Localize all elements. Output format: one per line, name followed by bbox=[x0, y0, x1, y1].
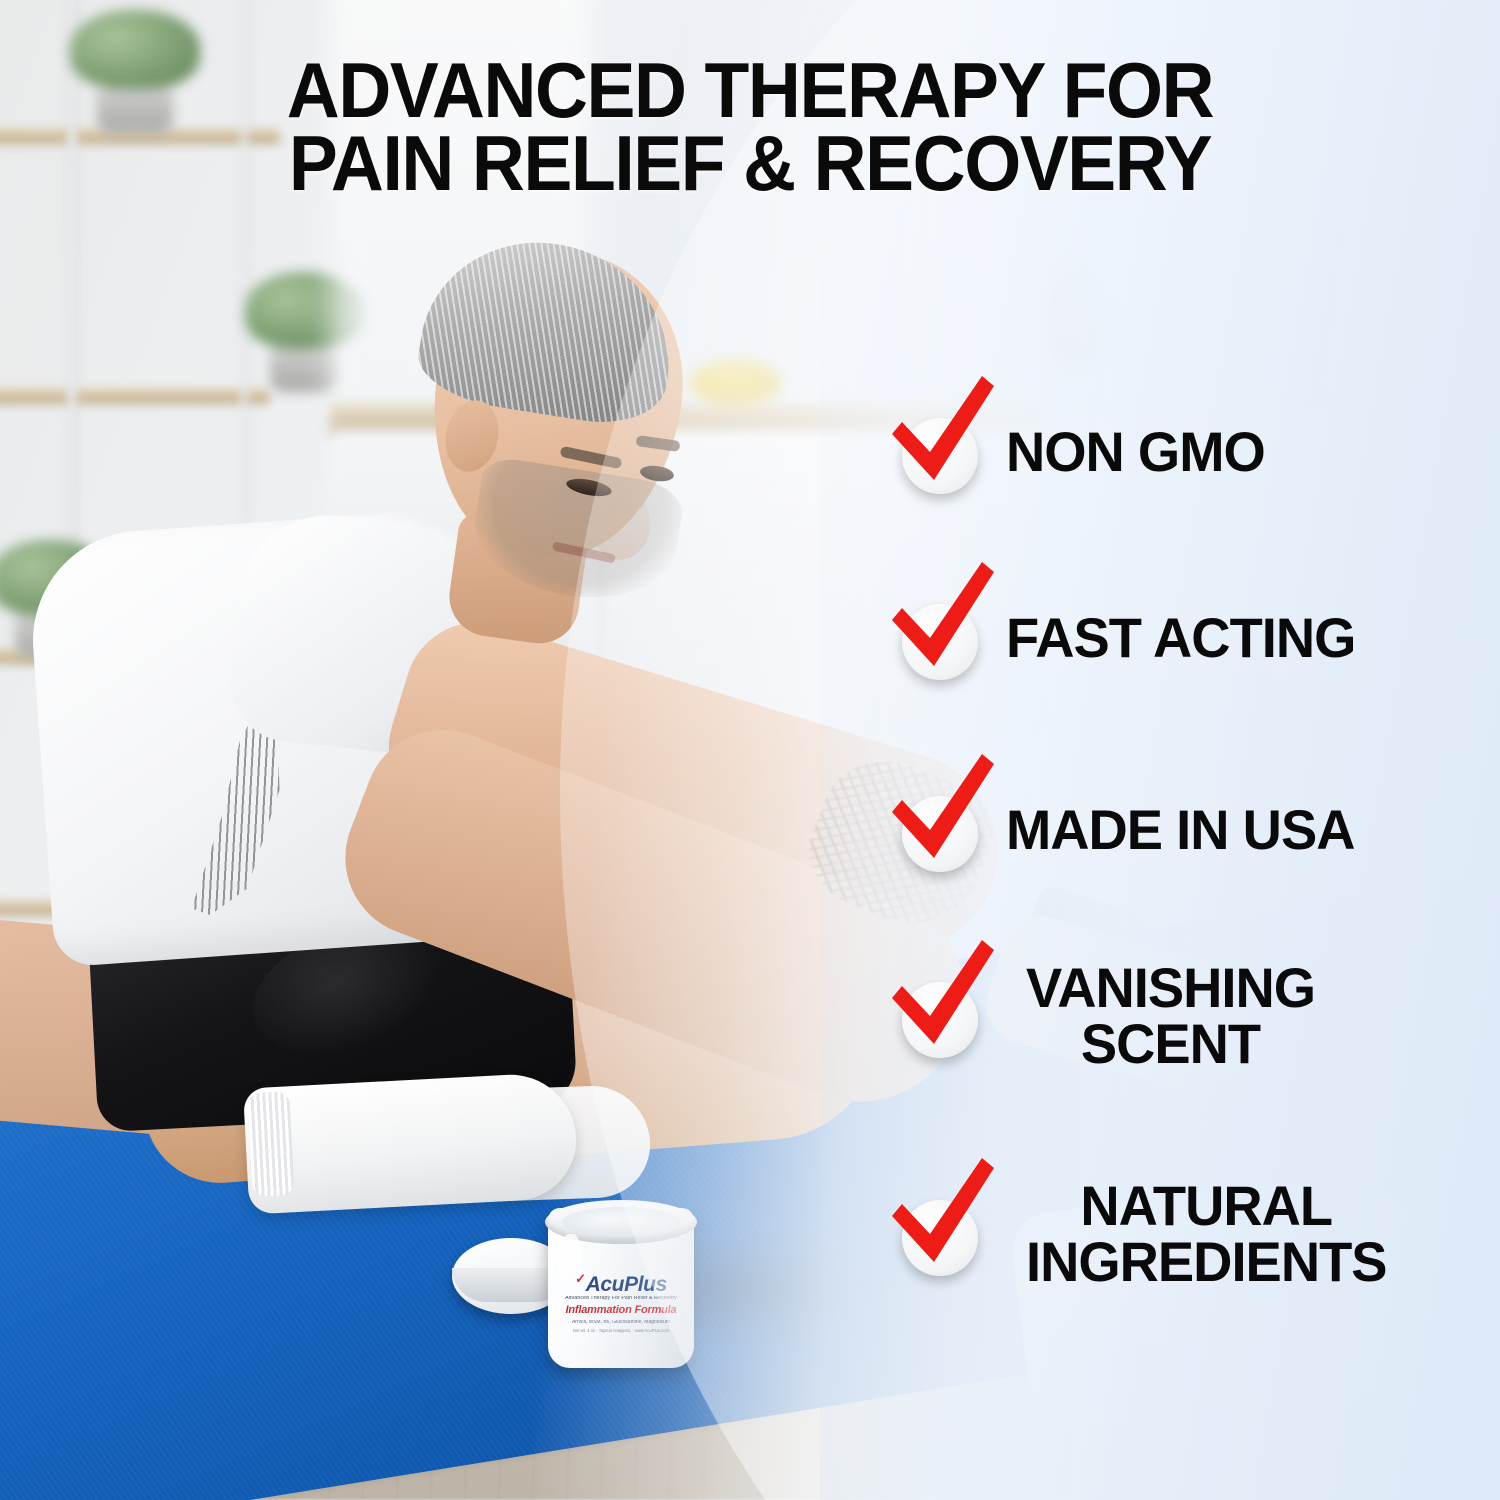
product-jar: ✓AcuPlus Advanced Therapy For Pain Relie… bbox=[548, 1208, 694, 1368]
sock-cuff bbox=[247, 1091, 294, 1197]
benefit-item-made-in-usa: MADE IN USA bbox=[888, 778, 1365, 882]
red-check-icon bbox=[884, 558, 1000, 686]
benefit-label: NON GMO bbox=[1006, 424, 1265, 480]
page-title: ADVANCED THERAPY FOR PAIN RELIEF & RECOV… bbox=[45, 54, 1455, 201]
product-image-canvas: ✓AcuPlus Advanced Therapy For Pain Relie… bbox=[0, 0, 1500, 1500]
check-badge bbox=[888, 586, 992, 690]
benefit-item-fast-acting: FAST ACTING bbox=[888, 586, 1366, 690]
red-check-icon bbox=[884, 1154, 1000, 1282]
jar-brand-name: ✓AcuPlus bbox=[554, 1272, 688, 1295]
benefit-label: FAST ACTING bbox=[1006, 610, 1355, 666]
benefit-item-non-gmo: NON GMO bbox=[888, 400, 1273, 504]
benefit-list: NON GMO FAST ACTING MADE IN USA bbox=[888, 400, 1500, 1400]
check-badge bbox=[888, 778, 992, 882]
jar-footer-text: Net wt. 4 oz · Topical Analgesic · www.A… bbox=[554, 1329, 688, 1333]
near-sock bbox=[243, 1071, 579, 1214]
jar-label: ✓AcuPlus Advanced Therapy For Pain Relie… bbox=[554, 1272, 688, 1348]
benefit-label: VANISHING SCENT bbox=[1026, 960, 1315, 1072]
check-badge bbox=[888, 400, 992, 504]
jar-opening bbox=[562, 1207, 680, 1237]
jar-formula-name: Inflammation Formula bbox=[554, 1305, 688, 1316]
benefit-item-natural-ingredients: NATURAL INGREDIENTS bbox=[888, 1178, 1398, 1290]
brand-text: AcuPlus bbox=[586, 1273, 667, 1296]
headline-line-2: PAIN RELIEF & RECOVERY bbox=[45, 127, 1455, 200]
red-check-icon bbox=[884, 750, 1000, 878]
benefit-item-vanishing-scent: VANISHING SCENT bbox=[888, 960, 1324, 1072]
benefit-label: MADE IN USA bbox=[1006, 802, 1354, 858]
jar-ingredients: Arnica, MSM, B6, Glucosamine, Magnesium bbox=[554, 1320, 688, 1325]
benefit-label: NATURAL INGREDIENTS bbox=[1026, 1178, 1387, 1290]
brand-check-icon: ✓ bbox=[575, 1271, 586, 1286]
jar-tagline: Advanced Therapy For Pain Relief & Recov… bbox=[554, 1296, 688, 1301]
red-check-icon bbox=[884, 372, 1000, 500]
check-badge bbox=[888, 1182, 992, 1286]
check-badge bbox=[888, 964, 992, 1068]
red-check-icon bbox=[884, 936, 1000, 1064]
